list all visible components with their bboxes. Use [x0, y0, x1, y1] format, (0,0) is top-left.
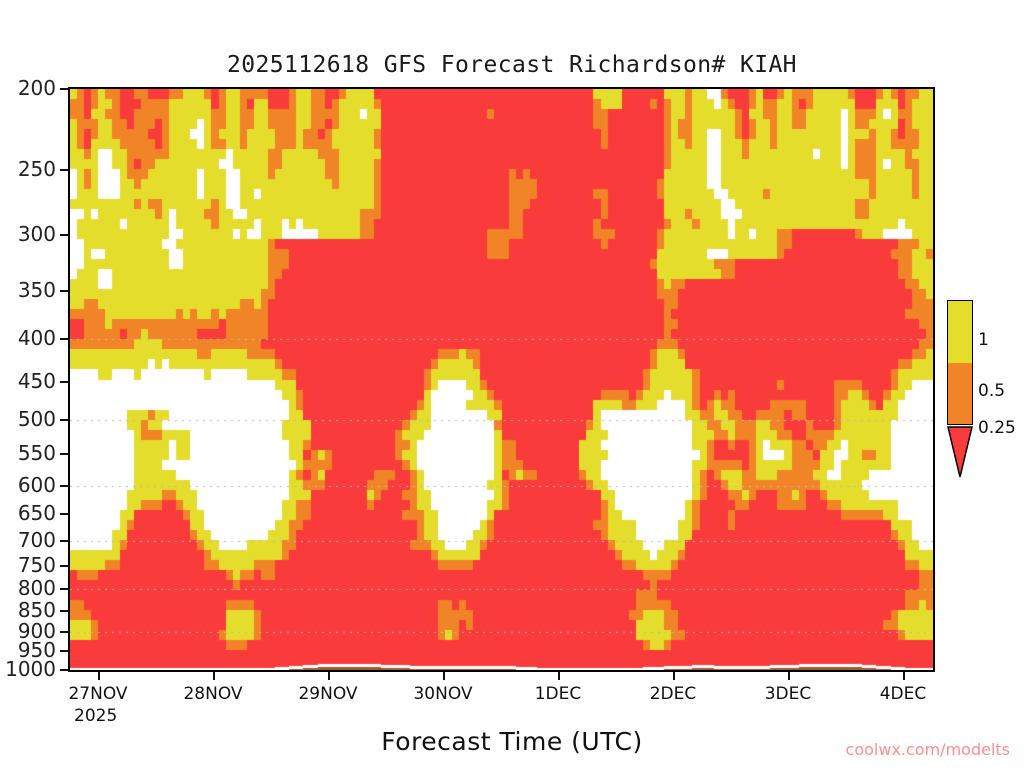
x-tick-mark: [903, 672, 905, 680]
y-tick-label: 700: [0, 528, 56, 552]
heatmap-canvas: [70, 89, 933, 670]
x-axis-year-label: 2025: [74, 706, 117, 726]
y-tick-mark: [60, 513, 69, 515]
x-tick-label: 3DEC: [758, 684, 818, 704]
y-tick-label: 1000: [0, 657, 56, 681]
x-tick-mark: [673, 672, 675, 680]
y-tick-label: 600: [0, 473, 56, 497]
y-tick-mark: [60, 485, 69, 487]
plot-area: [68, 87, 935, 672]
y-tick-mark: [60, 290, 69, 292]
colorbar: [947, 300, 973, 425]
x-tick-label: 29NOV: [298, 684, 358, 704]
colorbar-segment-yellow: [948, 301, 972, 363]
colorbar-label-05: 0.5: [978, 381, 1005, 401]
y-tick-label: 400: [0, 326, 56, 350]
y-tick-label: 200: [0, 76, 56, 100]
y-tick-label: 250: [0, 157, 56, 181]
y-tick-mark: [60, 669, 69, 671]
y-tick-mark: [60, 381, 69, 383]
colorbar-segment-orange: [948, 363, 972, 425]
x-tick-mark: [98, 672, 100, 680]
y-tick-mark: [60, 610, 69, 612]
y-tick-label: 350: [0, 278, 56, 302]
y-tick-mark: [60, 234, 69, 236]
x-tick-label: 4DEC: [873, 684, 933, 704]
watermark-link[interactable]: coolwx.com/modelts: [846, 740, 1010, 759]
colorbar-under-arrow: [947, 425, 973, 479]
chart-page: 2025112618 GFS Forecast Richardson# KIAH…: [0, 0, 1024, 768]
x-tick-label: 27NOV: [68, 684, 128, 704]
y-tick-mark: [60, 169, 69, 171]
y-tick-label: 750: [0, 553, 56, 577]
y-tick-label: 550: [0, 441, 56, 465]
y-tick-mark: [60, 419, 69, 421]
page-title: 2025112618 GFS Forecast Richardson# KIAH: [0, 52, 1024, 78]
y-tick-label: 800: [0, 576, 56, 600]
x-tick-mark: [443, 672, 445, 680]
y-tick-label: 500: [0, 407, 56, 431]
y-tick-label: 450: [0, 369, 56, 393]
y-tick-mark: [60, 631, 69, 633]
x-tick-label: 30NOV: [413, 684, 473, 704]
x-tick-mark: [328, 672, 330, 680]
y-tick-mark: [60, 540, 69, 542]
colorbar-label-1: 1: [978, 330, 989, 350]
y-tick-mark: [60, 650, 69, 652]
y-tick-mark: [60, 88, 69, 90]
y-tick-label: 650: [0, 501, 56, 525]
y-tick-mark: [60, 453, 69, 455]
y-tick-mark: [60, 588, 69, 590]
x-tick-label: 28NOV: [183, 684, 243, 704]
x-tick-mark: [788, 672, 790, 680]
y-tick-mark: [60, 338, 69, 340]
x-tick-label: 2DEC: [643, 684, 703, 704]
y-tick-mark: [60, 565, 69, 567]
x-tick-mark: [213, 672, 215, 680]
x-tick-mark: [558, 672, 560, 680]
colorbar-label-025: 0.25: [978, 418, 1016, 438]
x-tick-label: 1DEC: [528, 684, 588, 704]
y-tick-label: 300: [0, 222, 56, 246]
